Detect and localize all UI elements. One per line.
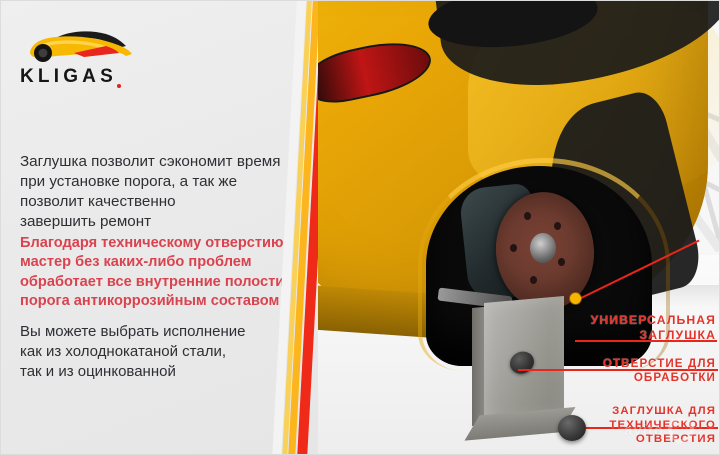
intro-line-4: завершить ремонт	[20, 212, 312, 232]
callout-marker-yellow-dot	[570, 293, 581, 304]
avito-watermark: avito	[624, 412, 716, 448]
highlight-line-4: порога антикоррозийным составом	[20, 292, 312, 311]
rotor-bolt	[558, 258, 565, 266]
rotor-hub	[530, 233, 556, 263]
rotor-bolt	[554, 222, 561, 230]
advertisement-banner: KLIGAS Заглушка позволит сэкономит время…	[0, 0, 720, 455]
sports-car-silhouette-icon	[22, 26, 142, 66]
paragraph-intro: Заглушка позволит сэкономит время при ус…	[20, 152, 312, 232]
options-line-2: как из холоднокатаной стали,	[20, 342, 312, 362]
callout-universal-plug: УНИВЕРСАЛЬНАЯ ЗАГЛУШКА	[540, 313, 716, 343]
options-line-3: так и из оцинкованной	[20, 362, 312, 382]
brand-logo[interactable]: KLIGAS	[20, 26, 170, 92]
highlight-line-2: мастер без каких-либо проблем	[20, 253, 312, 272]
highlight-line-3: обработает все внутренние полости	[20, 273, 312, 292]
product-photo	[318, 0, 720, 455]
options-line-1: Вы можете выбрать исполнение	[20, 322, 312, 342]
rotor-bolt	[524, 212, 531, 220]
callout-1-line-2: ЗАГЛУШКА	[540, 328, 716, 343]
watermark-ring-icon	[668, 417, 694, 443]
callout-2-line-1: ОТВЕРСТИЕ ДЛЯ	[540, 357, 716, 371]
rotor-bolt	[510, 244, 517, 252]
logo-accent-dot	[117, 84, 121, 88]
paragraph-options: Вы можете выбрать исполнение как из холо…	[20, 322, 312, 381]
highlight-line-1: Благодаря техническому отверстию,	[20, 234, 312, 253]
watermark-text: avito	[624, 422, 664, 439]
paragraph-highlight: Благодаря техническому отверстию, мастер…	[20, 234, 312, 311]
rotor-bolt	[530, 276, 537, 284]
callout-2-line-2: ОБРАБОТКИ	[540, 371, 716, 385]
intro-line-1: Заглушка позволит сэкономит время	[20, 152, 312, 172]
callout-1-line-1: УНИВЕРСАЛЬНАЯ	[540, 313, 716, 328]
intro-line-3: позволит качественно	[20, 192, 312, 212]
brand-wordmark: KLIGAS	[20, 66, 117, 88]
intro-line-2: при установке порога, а так же	[20, 172, 312, 192]
callout-treatment-hole: ОТВЕРСТИЕ ДЛЯ ОБРАБОТКИ	[540, 357, 716, 385]
